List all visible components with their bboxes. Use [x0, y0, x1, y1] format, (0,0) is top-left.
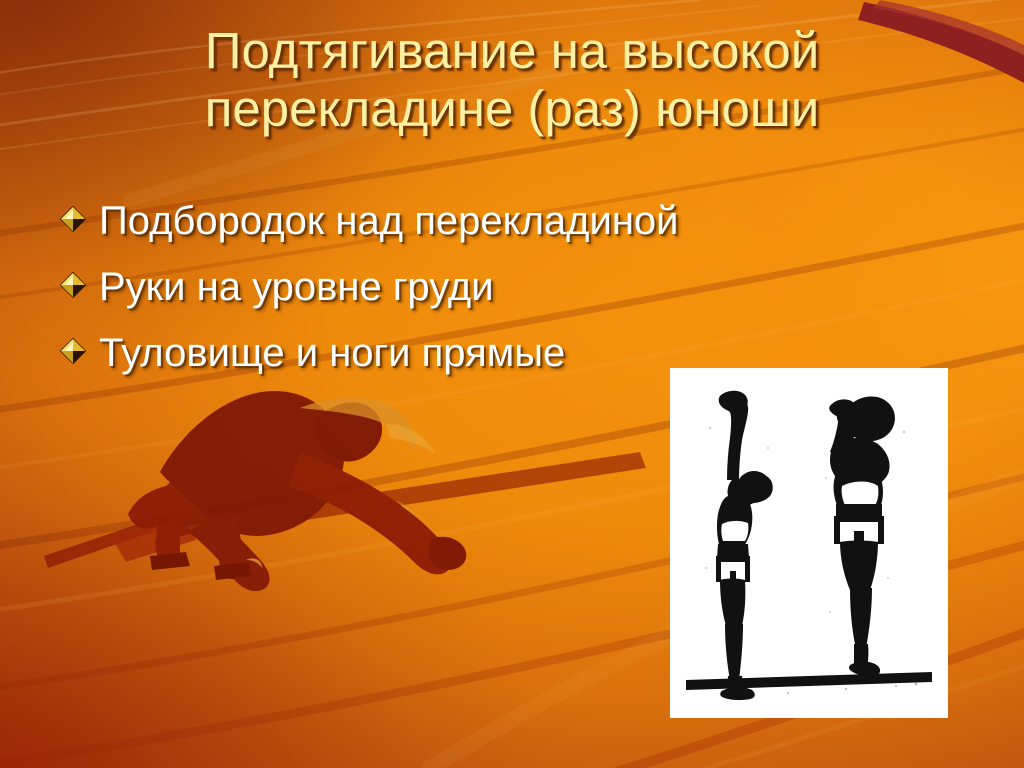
list-item-label: Туловище и ноги прямые — [99, 333, 565, 373]
pull-up-figures-illustration — [670, 368, 948, 718]
list-item: Руки на уровне груди — [58, 254, 938, 320]
diamond-bullet-icon — [58, 270, 88, 300]
diamond-bullet-icon — [58, 336, 88, 366]
slide: Подтягивание на высокой перекладине (раз… — [0, 0, 1024, 768]
diamond-bullet-icon — [58, 204, 88, 234]
page-title: Подтягивание на высокой перекладине (раз… — [60, 22, 964, 137]
bullet-list: Подбородок над перекладиной Руки на уров… — [58, 188, 938, 386]
list-item-label: Руки на уровне груди — [99, 267, 494, 307]
list-item-label: Подбородок над перекладиной — [99, 201, 679, 241]
list-item: Подбородок над перекладиной — [58, 188, 938, 254]
